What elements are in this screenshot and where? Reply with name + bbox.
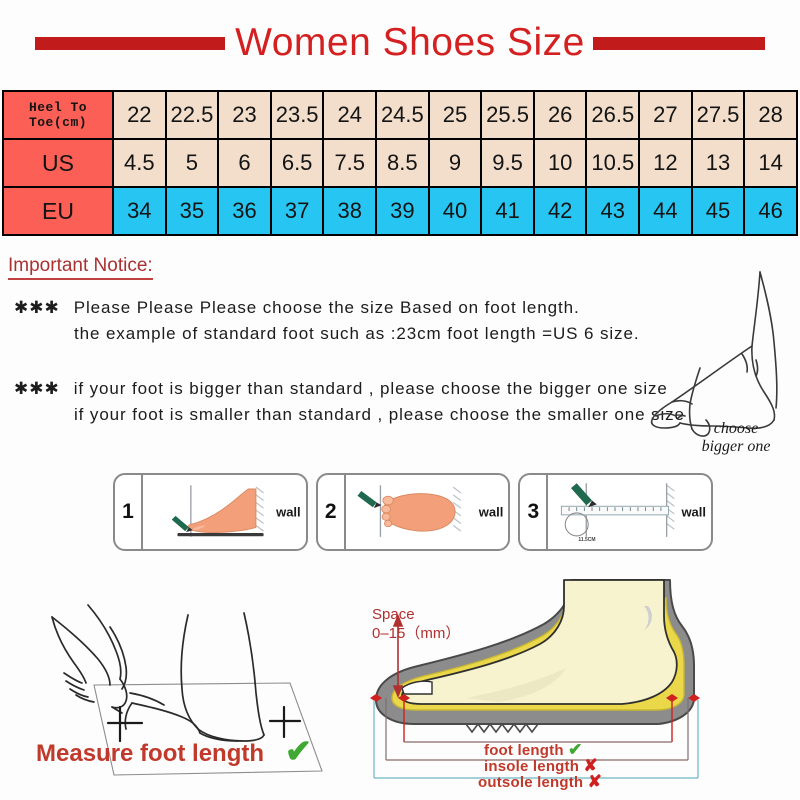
- choose-bigger-one-caption: choose bigger one: [676, 420, 796, 456]
- notice-line: ✱✱✱if your foot is bigger than standard …: [14, 376, 685, 402]
- caption-line: bigger one: [702, 438, 771, 455]
- size-conversion-table: Heel To Toe(cm) 22 22.5 23 23.5 24 24.5 …: [2, 90, 798, 236]
- table-row: Heel To Toe(cm) 22 22.5 23 23.5 24 24.5 …: [3, 91, 797, 139]
- cell-eu: 42: [534, 187, 587, 235]
- measurement-steps: 1 wall 2: [113, 473, 713, 551]
- cell-eu: 39: [376, 187, 429, 235]
- table-row: EU 34 35 36 37 38 39 40 41 42 43 44 45 4…: [3, 187, 797, 235]
- step-box-2: 2 wall: [316, 473, 511, 551]
- cell-eu: 34: [113, 187, 166, 235]
- step-illustration-foot-side: wall: [143, 475, 306, 549]
- step-illustration-foot-top: wall: [346, 475, 509, 549]
- cell-us: 9: [429, 139, 482, 187]
- space-annotation: Space 0–15（mm）: [372, 605, 460, 643]
- cell-eu: 46: [744, 187, 797, 235]
- table-row: US 4.5 5 6 6.5 7.5 8.5 9 9.5 10 10.5 12 …: [3, 139, 797, 187]
- cell-cm: 24.5: [376, 91, 429, 139]
- cell-us: 7.5: [323, 139, 376, 187]
- cell-us: 12: [639, 139, 692, 187]
- cell-eu: 45: [692, 187, 745, 235]
- cell-cm: 22.5: [166, 91, 219, 139]
- cell-eu: 40: [429, 187, 482, 235]
- step-box-1: 1 wall: [113, 473, 308, 551]
- asterisk-marker: ✱✱✱: [14, 298, 60, 317]
- asterisk-marker: ✱✱✱: [14, 379, 60, 398]
- cell-eu: 43: [586, 187, 639, 235]
- cell-eu: 41: [481, 187, 534, 235]
- cell-cm: 26.5: [586, 91, 639, 139]
- important-notice-heading: Important Notice:: [8, 256, 153, 280]
- cell-cm: 23: [218, 91, 271, 139]
- page-title: Women Shoes Size: [235, 21, 585, 65]
- row-header-us: US: [3, 139, 113, 187]
- cell-us: 14: [744, 139, 797, 187]
- cell-eu: 35: [166, 187, 219, 235]
- measure-foot-length-caption: Measure foot length: [36, 740, 264, 768]
- cell-cm: 27: [639, 91, 692, 139]
- row-header-eu: EU: [3, 187, 113, 235]
- outsole-length-label-row: outsole length ✘: [478, 772, 602, 792]
- cell-cm: 27.5: [692, 91, 745, 139]
- ruler-reading: 11.5CM: [578, 537, 595, 543]
- length-label: outsole length: [478, 774, 583, 791]
- step-illustration-ruler: 11.5CM wall: [548, 475, 711, 549]
- space-line: 0–15（mm）: [372, 625, 460, 642]
- cell-us: 8.5: [376, 139, 429, 187]
- wall-label: wall: [276, 505, 301, 520]
- title-rule-left: [35, 37, 225, 50]
- cell-eu: 44: [639, 187, 692, 235]
- cell-us: 5: [166, 139, 219, 187]
- cell-us: 4.5: [113, 139, 166, 187]
- cell-eu: 37: [271, 187, 324, 235]
- green-check-icon: ✔: [285, 735, 312, 767]
- notice-line: ✱✱✱Please Please Please choose the size …: [14, 295, 639, 321]
- notice-paragraph-2: ✱✱✱if your foot is bigger than standard …: [14, 376, 685, 428]
- cell-us: 9.5: [481, 139, 534, 187]
- space-line: Space: [372, 606, 415, 623]
- step-number: 2: [318, 475, 346, 549]
- notice-line: the example of standard foot such as :23…: [14, 321, 639, 347]
- step-box-3: 3: [518, 473, 713, 551]
- wall-label: wall: [479, 505, 504, 520]
- caption-line: choose: [714, 420, 758, 437]
- notice-text: Please Please Please choose the size Bas…: [74, 298, 580, 317]
- cell-us: 6.5: [271, 139, 324, 187]
- cell-us: 10: [534, 139, 587, 187]
- wall-label: wall: [681, 505, 706, 520]
- cell-cm: 25: [429, 91, 482, 139]
- row-header-heel-to-toe: Heel To Toe(cm): [3, 91, 113, 139]
- step-number: 1: [115, 475, 143, 549]
- title-rule-right: [593, 37, 765, 50]
- step-number: 3: [520, 475, 548, 549]
- cell-cm: 22: [113, 91, 166, 139]
- notice-line: if your foot is smaller than standard , …: [14, 402, 685, 428]
- cell-cm: 25.5: [481, 91, 534, 139]
- page-header: Women Shoes Size: [0, 16, 800, 70]
- cell-us: 6: [218, 139, 271, 187]
- cell-cm: 23.5: [271, 91, 324, 139]
- cell-us: 10.5: [586, 139, 639, 187]
- red-cross-icon: ✘: [588, 772, 602, 791]
- notice-paragraph-1: ✱✱✱Please Please Please choose the size …: [14, 295, 639, 347]
- cell-cm: 24: [323, 91, 376, 139]
- cell-eu: 38: [323, 187, 376, 235]
- cell-cm: 26: [534, 91, 587, 139]
- notice-text: if your foot is bigger than standard , p…: [74, 379, 668, 398]
- cell-eu: 36: [218, 187, 271, 235]
- cell-cm: 28: [744, 91, 797, 139]
- cell-us: 13: [692, 139, 745, 187]
